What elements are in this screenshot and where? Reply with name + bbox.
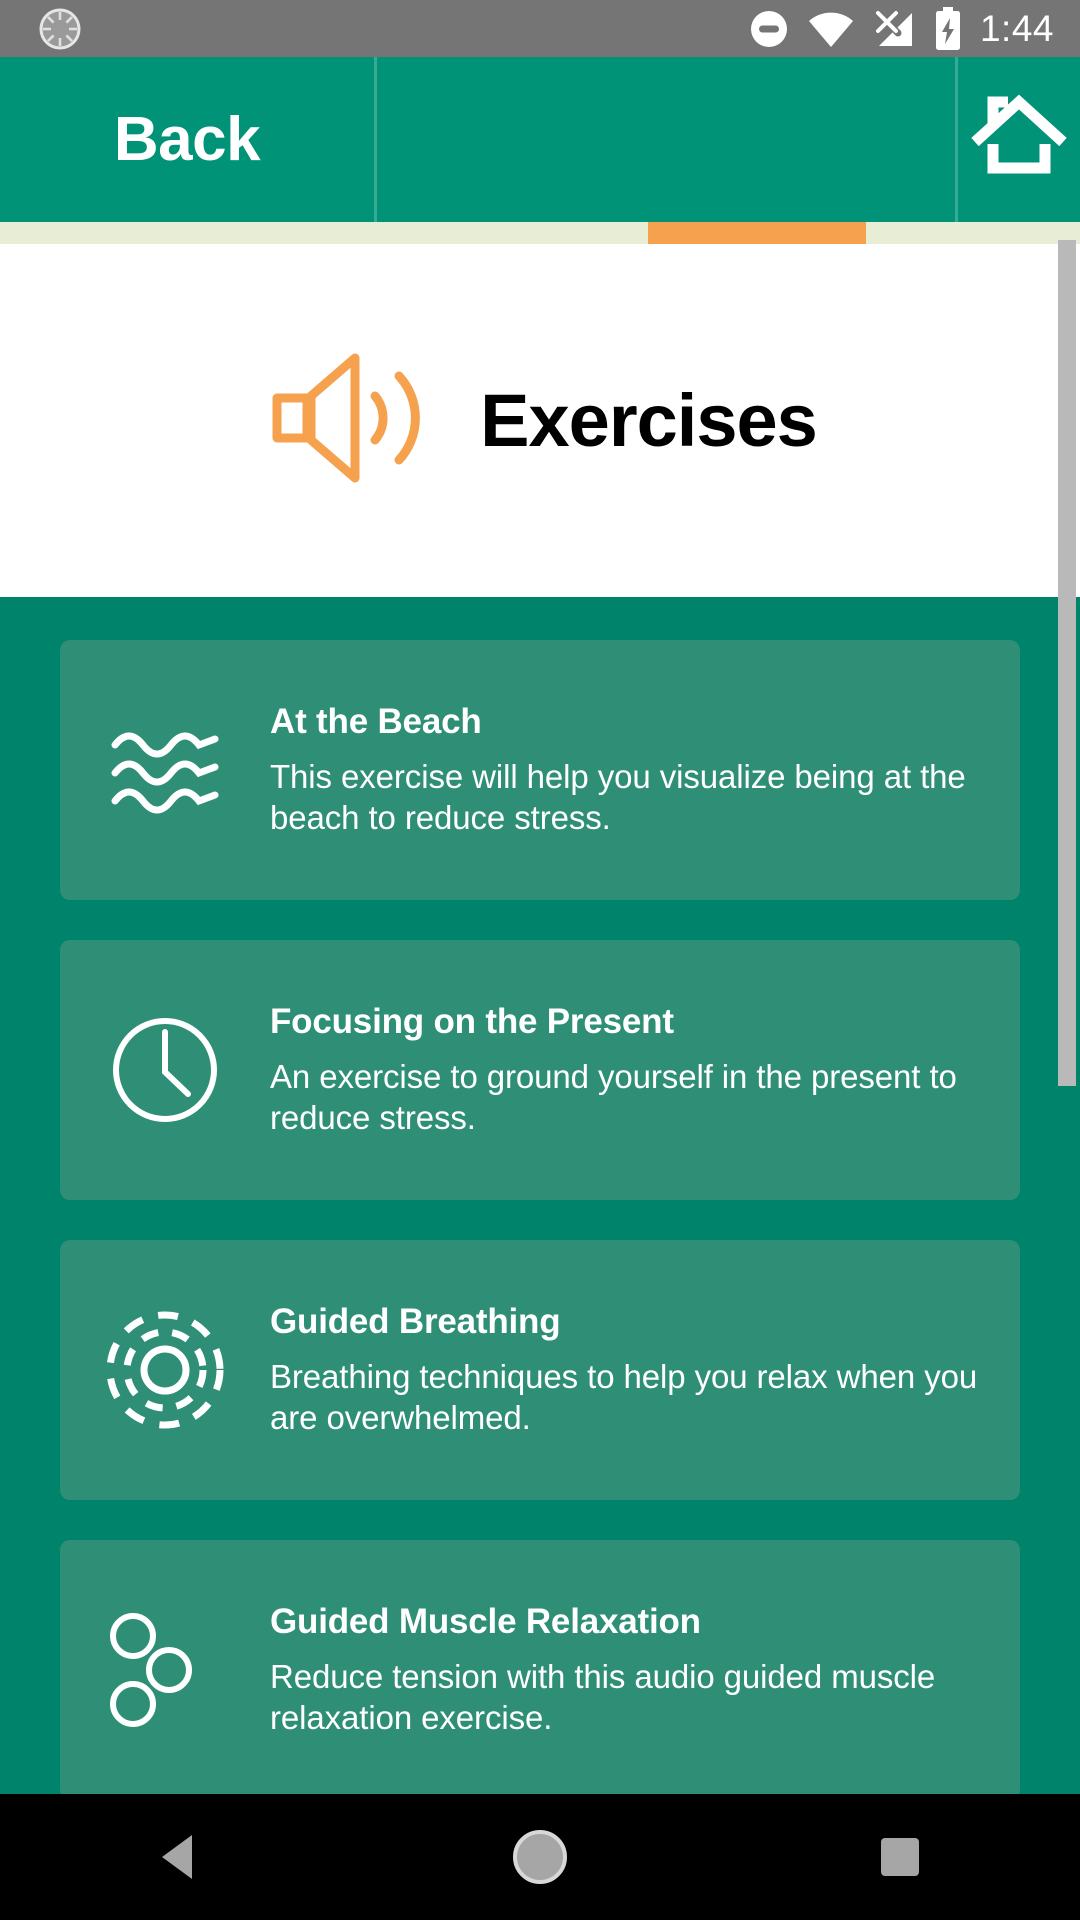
list-item[interactable]: Focusing on the Present An exercise to g…	[60, 940, 1020, 1200]
clock-icon	[60, 1014, 270, 1126]
list-item-description: Reduce tension with this audio guided mu…	[270, 1656, 978, 1739]
phone-screen: 1:44 Back	[0, 0, 1080, 1920]
page-header: Exercises	[0, 244, 1080, 597]
list-item-title: At the Beach	[270, 702, 978, 742]
page-title: Exercises	[480, 378, 817, 463]
android-home-button[interactable]	[440, 1794, 640, 1920]
list-item-description: Breathing techniques to help you relax w…	[270, 1356, 978, 1439]
list-item-title: Focusing on the Present	[270, 1002, 978, 1042]
list-item-body: Focusing on the Present An exercise to g…	[270, 1002, 1020, 1139]
app-bar: Back	[0, 57, 1080, 222]
battery-charging-icon	[934, 7, 962, 51]
home-icon	[971, 94, 1067, 185]
three-circles-icon	[60, 1611, 270, 1729]
list-item-body: Guided Breathing Breathing techniques to…	[270, 1302, 1020, 1439]
list-item-body: Guided Muscle Relaxation Reduce tension …	[270, 1602, 1020, 1739]
list-item-description: This exercise will help you visualize be…	[270, 756, 978, 839]
list-item[interactable]: At the Beach This exercise will help you…	[60, 640, 1020, 900]
list-item[interactable]: Guided Breathing Breathing techniques to…	[60, 1240, 1020, 1500]
sync-spinner-icon	[0, 7, 120, 51]
progress-bar-fill	[648, 222, 866, 244]
android-recents-button[interactable]	[800, 1794, 1000, 1920]
list-item[interactable]: Guided Muscle Relaxation Reduce tension …	[60, 1540, 1020, 1794]
android-back-button[interactable]	[80, 1794, 280, 1920]
exercise-list: At the Beach This exercise will help you…	[0, 597, 1080, 1794]
cellular-signal-off-icon	[872, 9, 916, 49]
do-not-disturb-icon	[748, 8, 790, 50]
vertical-scrollbar[interactable]	[1058, 240, 1076, 1086]
app-bar-title-area	[377, 57, 955, 222]
concentric-dashed-circles-icon	[60, 1311, 270, 1429]
back-button[interactable]: Back	[0, 57, 374, 222]
android-navigation-bar	[0, 1794, 1080, 1920]
speaker-volume-icon	[263, 348, 448, 493]
back-button-label: Back	[114, 104, 260, 175]
status-bar-clock: 1:44	[980, 10, 1054, 47]
status-bar-icons: 1:44	[748, 7, 1080, 51]
home-button[interactable]	[958, 57, 1080, 222]
list-item-title: Guided Breathing	[270, 1302, 978, 1342]
waves-icon	[60, 725, 270, 815]
wifi-icon	[808, 10, 854, 48]
status-bar: 1:44	[0, 0, 1080, 57]
progress-bar-track	[0, 222, 1080, 244]
list-item-title: Guided Muscle Relaxation	[270, 1602, 978, 1642]
list-item-body: At the Beach This exercise will help you…	[270, 702, 1020, 839]
list-item-description: An exercise to ground yourself in the pr…	[270, 1056, 978, 1139]
